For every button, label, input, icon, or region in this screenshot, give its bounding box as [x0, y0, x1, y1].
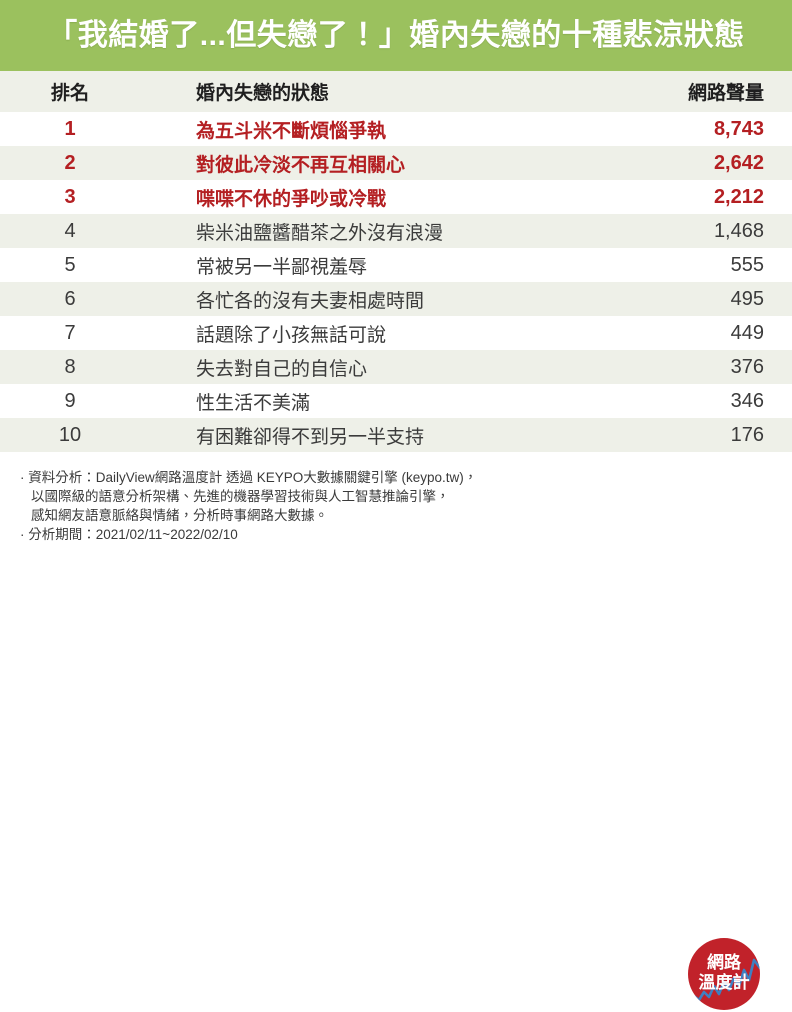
- logo-text-line2: 溫度計: [699, 972, 750, 992]
- page-title: 「我結婚了...但失戀了！」婚內失戀的十種悲涼狀態: [47, 21, 745, 51]
- brand-logo: 網路 溫度計: [686, 936, 762, 1012]
- table-row: 6 各忙各的沒有夫妻相處時間 495: [0, 282, 792, 316]
- table-row: 9 性生活不美滿 346: [0, 384, 792, 418]
- row-value: 8,743: [602, 118, 792, 141]
- row-state: 有困難卻得不到另一半支持: [140, 422, 602, 449]
- row-value: 2,212: [602, 186, 792, 209]
- row-state: 喋喋不休的爭吵或冷戰: [140, 184, 602, 211]
- row-rank: 2: [0, 152, 140, 175]
- infographic-poster: 「我結婚了...但失戀了！」婚內失戀的十種悲涼狀態 排名 婚內失戀的狀態 網路聲…: [0, 0, 792, 555]
- row-value: 2,642: [602, 152, 792, 175]
- row-rank: 9: [0, 390, 140, 413]
- row-rank: 4: [0, 220, 140, 243]
- row-value: 1,468: [602, 220, 792, 243]
- footer-line-method-1: 以國際級的語意分析架構、先進的機器學習技術與人工智慧推論引擎，: [20, 487, 640, 506]
- logo-text-line1: 網路: [707, 952, 742, 972]
- logo-circle-icon: 網路 溫度計: [686, 936, 762, 1012]
- title-band: 「我結婚了...但失戀了！」婚內失戀的十種悲涼狀態: [0, 0, 792, 71]
- table-header-row: 排名 婚內失戀的狀態 網路聲量: [0, 71, 792, 112]
- footer-line-method-2: 感知網友語意脈絡與情緒，分析時事網路大數據。: [20, 506, 640, 525]
- column-header-value: 網路聲量: [602, 78, 792, 105]
- table-row: 7 話題除了小孩無話可說 449: [0, 316, 792, 350]
- table-row: 4 柴米油鹽醬醋茶之外沒有浪漫 1,468: [0, 214, 792, 248]
- row-state: 各忙各的沒有夫妻相處時間: [140, 286, 602, 313]
- row-value: 555: [602, 254, 792, 277]
- row-rank: 1: [0, 118, 140, 141]
- table-row: 3 喋喋不休的爭吵或冷戰 2,212: [0, 180, 792, 214]
- ranking-table: 排名 婚內失戀的狀態 網路聲量 1 為五斗米不斷煩惱爭執 8,743 2 對彼此…: [0, 71, 792, 452]
- footer-line-period: · 分析期間：2021/02/11~2022/02/10: [20, 525, 640, 544]
- row-state: 性生活不美滿: [140, 388, 602, 415]
- row-state: 失去對自己的自信心: [140, 354, 602, 381]
- row-value: 495: [602, 288, 792, 311]
- row-value: 346: [602, 390, 792, 413]
- footer-notes: · 資料分析：DailyView網路溫度計 透過 KEYPO大數據關鍵引擎 (k…: [20, 468, 640, 544]
- table-row: 8 失去對自己的自信心 376: [0, 350, 792, 384]
- row-state: 話題除了小孩無話可說: [140, 320, 602, 347]
- column-header-rank: 排名: [0, 78, 140, 105]
- row-rank: 7: [0, 322, 140, 345]
- row-rank: 6: [0, 288, 140, 311]
- footer-line-source: · 資料分析：DailyView網路溫度計 透過 KEYPO大數據關鍵引擎 (k…: [20, 468, 640, 487]
- row-state: 柴米油鹽醬醋茶之外沒有浪漫: [140, 218, 602, 245]
- table-row: 10 有困難卻得不到另一半支持 176: [0, 418, 792, 452]
- row-state: 對彼此冷淡不再互相關心: [140, 150, 602, 177]
- row-rank: 10: [0, 424, 140, 447]
- row-state: 為五斗米不斷煩惱爭執: [140, 116, 602, 143]
- row-rank: 3: [0, 186, 140, 209]
- row-rank: 8: [0, 356, 140, 379]
- row-value: 176: [602, 424, 792, 447]
- table-row: 2 對彼此冷淡不再互相關心 2,642: [0, 146, 792, 180]
- column-header-state: 婚內失戀的狀態: [140, 78, 602, 105]
- table-row: 1 為五斗米不斷煩惱爭執 8,743: [0, 112, 792, 146]
- row-rank: 5: [0, 254, 140, 277]
- row-state: 常被另一半鄙視羞辱: [140, 252, 602, 279]
- row-value: 376: [602, 356, 792, 379]
- row-value: 449: [602, 322, 792, 345]
- table-row: 5 常被另一半鄙視羞辱 555: [0, 248, 792, 282]
- footer: · 資料分析：DailyView網路溫度計 透過 KEYPO大數據關鍵引擎 (k…: [0, 462, 792, 555]
